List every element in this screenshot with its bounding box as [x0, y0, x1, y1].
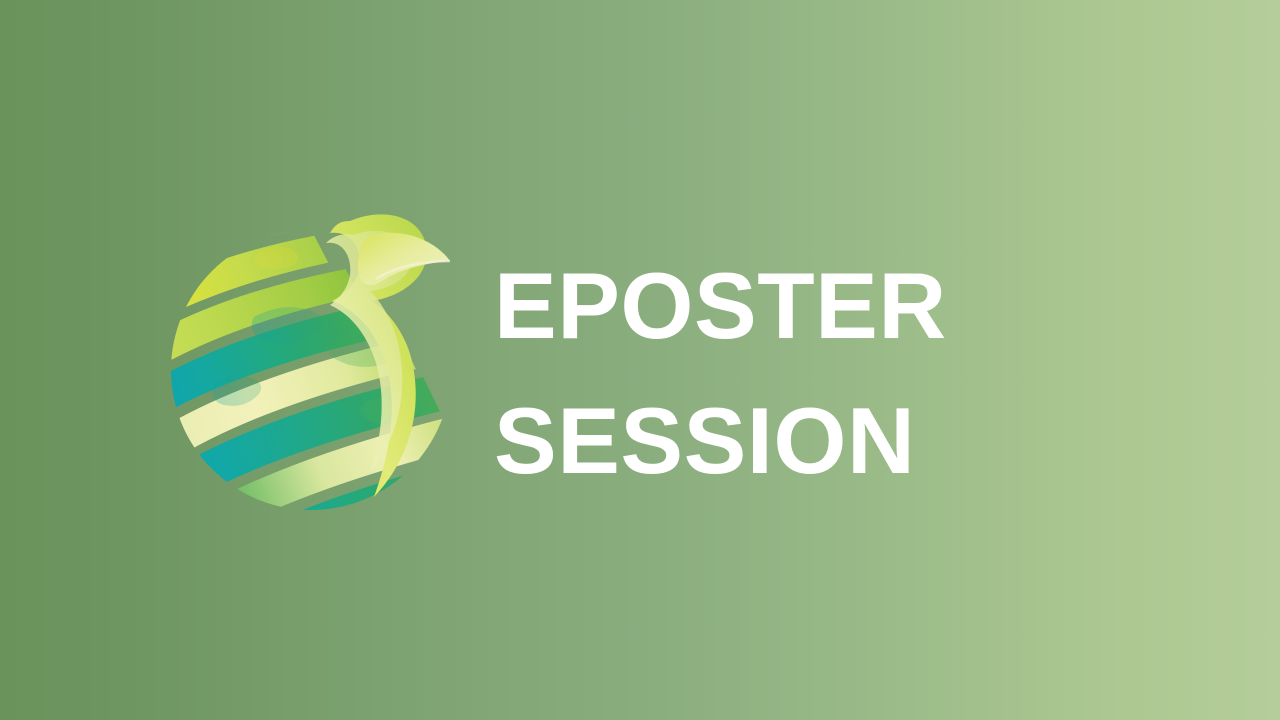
headline-line-two: SESSION	[494, 373, 1134, 508]
headline-line-one: EPOSTER	[494, 238, 1134, 373]
title-slide: EPOSTER SESSION	[0, 0, 1280, 720]
globe-swan-logo	[168, 205, 468, 510]
headline-block: EPOSTER SESSION	[494, 238, 1134, 508]
